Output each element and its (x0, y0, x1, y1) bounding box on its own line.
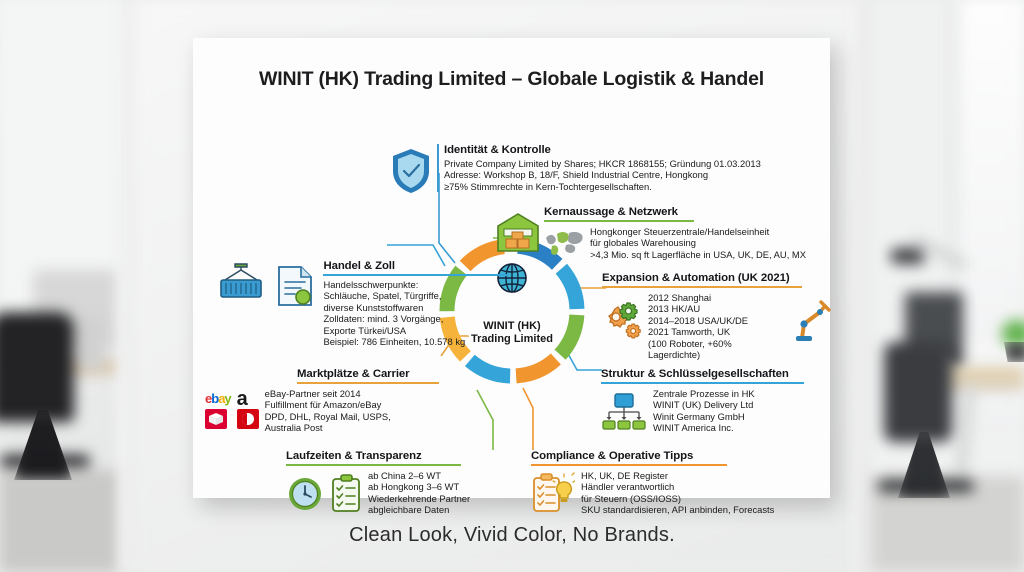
section-heading: Expansion & Automation (UK 2021) (602, 272, 832, 286)
shield-check-icon (389, 146, 433, 196)
clipboard-check-icon (531, 472, 575, 514)
amazon-logo: a (237, 392, 259, 406)
clipboard-check-icon (330, 473, 362, 513)
section-text: HK, UK, DE Register Händler verantwortli… (581, 470, 774, 516)
section-struktur-schluesselgesellschaften: Struktur & Schlüsselgesellschaften (601, 368, 831, 434)
robot-arm-icon (792, 298, 832, 342)
connector-compliance (523, 388, 533, 450)
section-text: ab China 2–6 WT ab Hongkong 3–6 WT Wiede… (368, 470, 470, 516)
section-heading: Compliance & Operative Tipps (531, 450, 811, 464)
section-heading: Struktur & Schlüsselgesellschaften (601, 368, 831, 382)
section-kernaussage-netzwerk: Kernaussage & Netzwerk Ho (495, 206, 825, 260)
section-text: eBay-Partner seit 2014 Fulfillment für A… (265, 388, 391, 434)
section-heading: Identität & Kontrolle (444, 144, 761, 158)
connector-laufzeiten (477, 390, 493, 450)
section-marktplaetze-carrier: Marktplätze & Carrier ebay a eBay-Partne… (205, 368, 455, 434)
section-laufzeiten-transparenz: Laufzeiten & Transparenz (286, 450, 536, 516)
gears-icon (602, 300, 642, 340)
infographic-poster: WINIT (HK) Trading Limited – Globale Log… (193, 38, 830, 498)
brand-logos: ebay a (205, 391, 259, 429)
section-text: Private Company Limited by Shares; HKCR … (444, 158, 761, 192)
section-text: Zentrale Prozesse in HK WINIT (UK) Deliv… (653, 388, 755, 434)
world-map-icon (544, 229, 584, 257)
clock-icon (286, 473, 324, 513)
section-identitaet-kontrolle: Identität & Kontrolle Private Company Li… (389, 144, 789, 196)
screenshot-root: WINIT (HK) Trading Limited – Globale Log… (0, 0, 1024, 572)
section-compliance-operative-tipps: Compliance & Operative Tipps (531, 450, 811, 516)
section-heading: Kernaussage & Netzwerk (544, 206, 806, 220)
warehouse-icon (495, 210, 541, 254)
section-handel-zoll: Handel & Zoll Handelsschwerpunkte: Schlä… (215, 260, 455, 347)
section-heading: Handel & Zoll (323, 260, 509, 274)
section-text: 2012 Shanghai 2013 HK/AU 2014–2018 USA/U… (648, 292, 786, 360)
section-expansion-automation: Expansion & Automation (UK 2021) (602, 272, 832, 360)
image-caption: Clean Look, Vivid Color, No Brands. (0, 524, 1024, 547)
section-heading: Laufzeiten & Transparenz (286, 450, 536, 464)
dpd-logo (205, 409, 227, 429)
section-text: Hongkonger Steuerzentrale/Handelseinheit… (590, 226, 806, 260)
section-heading: Marktplätze & Carrier (297, 368, 455, 382)
section-text: Handelsschwerpunkte: Schläuche, Spatel, … (323, 279, 509, 347)
ebay-logo: ebay (205, 391, 231, 406)
org-chart-icon (601, 391, 647, 431)
shipping-container-icon (215, 262, 267, 308)
dhl-logo (237, 409, 259, 429)
customs-document-icon (271, 264, 319, 308)
